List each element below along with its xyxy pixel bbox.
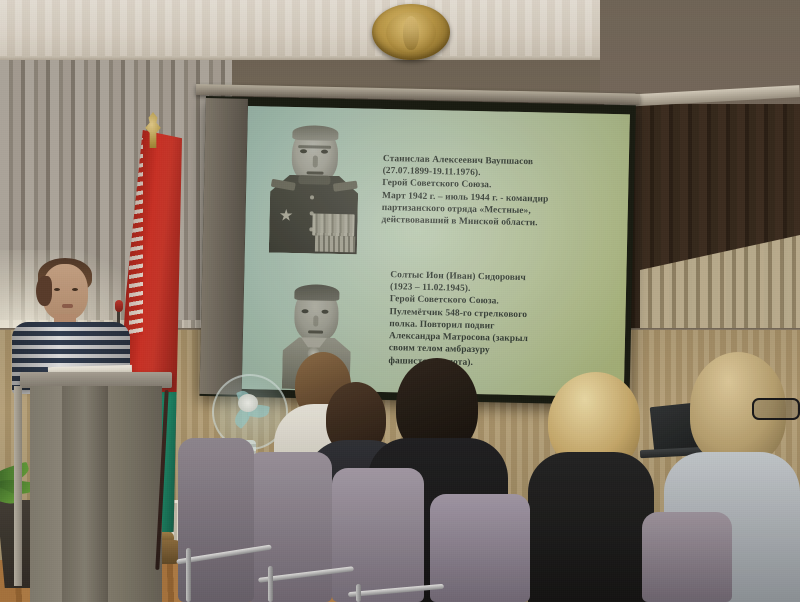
slide-text-block-2: Солтыс Ион (Иван) Сидорович (1923 – 11.0… (388, 269, 622, 372)
presenter-eye (72, 288, 78, 291)
screen-left-margin (200, 98, 248, 395)
presentation-slide: Станислав Алексеевич Ваупшасов (27.07.18… (242, 106, 630, 397)
portrait-vaupshasov (267, 124, 362, 254)
podium-column (62, 386, 108, 602)
podium-edge (14, 386, 22, 586)
chair-leg (186, 548, 191, 602)
microphone-icon (115, 300, 123, 312)
slide-text-block-1: Станислав Алексеевич Ваупшасов (27.07.18… (381, 153, 625, 232)
presenter-eye (54, 288, 60, 291)
chair-back[interactable] (642, 512, 732, 602)
presenter-hair-side (36, 276, 52, 306)
fan-hub (238, 394, 258, 412)
eyeglasses-icon (752, 398, 800, 420)
chair-back[interactable] (332, 468, 424, 602)
chair-back[interactable] (430, 494, 530, 602)
assembly-hall-photo: Станислав Алексеевич Ваупшасов (27.07.18… (0, 0, 800, 602)
chair-leg (356, 584, 361, 602)
national-emblem-icon (372, 4, 450, 60)
presenter-mouth (62, 304, 73, 308)
chair-leg (268, 566, 273, 602)
